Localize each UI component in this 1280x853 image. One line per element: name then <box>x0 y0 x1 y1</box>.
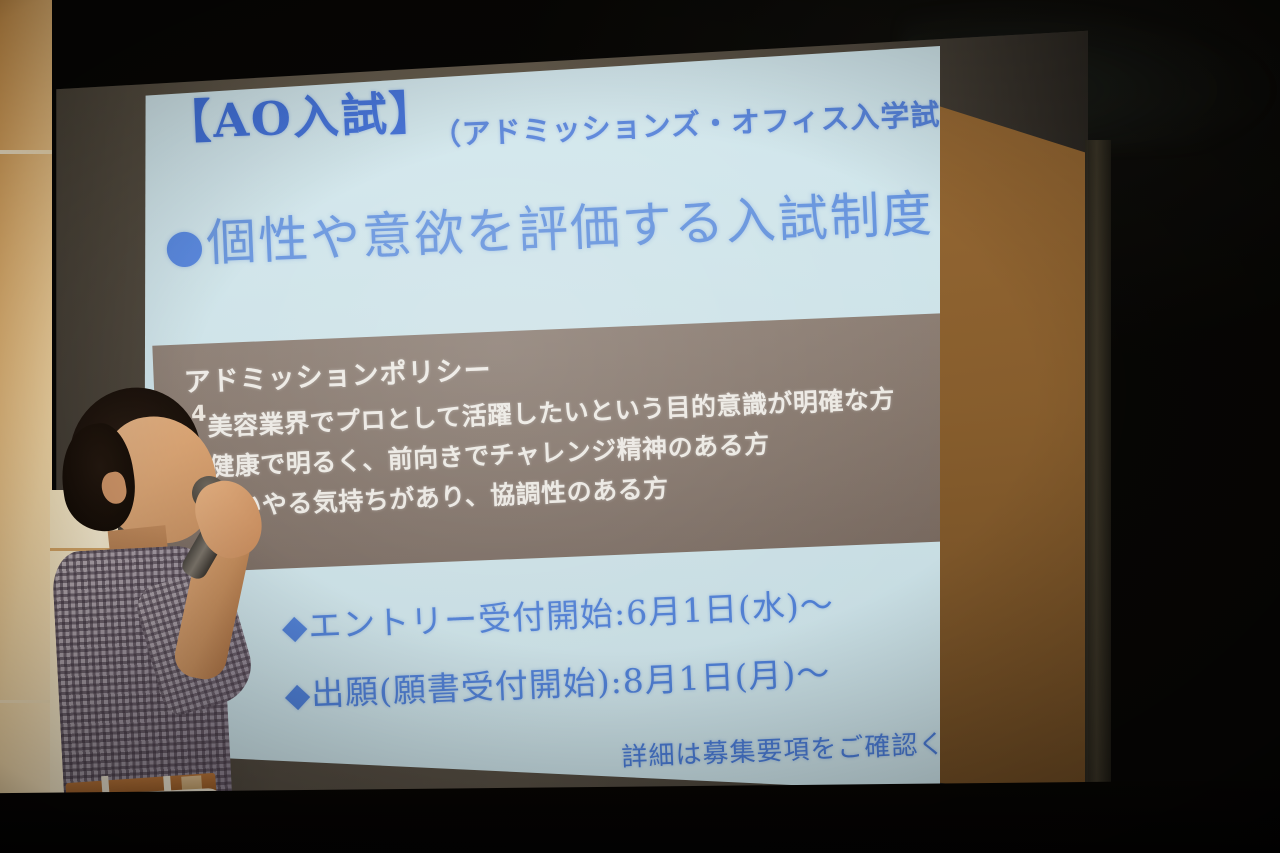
schedule-entry-start: ◆エントリー受付開始:6月1日(水)～ <box>281 578 835 649</box>
slide-subtitle: （アドミッションズ・オフィス入学試験） <box>431 89 1001 154</box>
screen-frame-right-band <box>925 92 1085 802</box>
right-wall-post <box>1085 140 1111 853</box>
left-wall-seam-upper <box>0 150 52 154</box>
slide-main-bullet-text: 個性や意欲を評価する入試制度 <box>205 185 935 273</box>
presentation-photo: 【AO入試】 （アドミッションズ・オフィス入学試験） ●個性や意欲を評価する入試… <box>0 0 1280 853</box>
bullet-dot-icon: ● <box>163 217 207 273</box>
speaker-figure <box>40 380 270 853</box>
slide-main-bullet: ●個性や意欲を評価する入試制度 <box>163 174 935 278</box>
schedule-application-start: ◆出願(願書受付開始):8月1日(月)～ <box>284 646 832 716</box>
